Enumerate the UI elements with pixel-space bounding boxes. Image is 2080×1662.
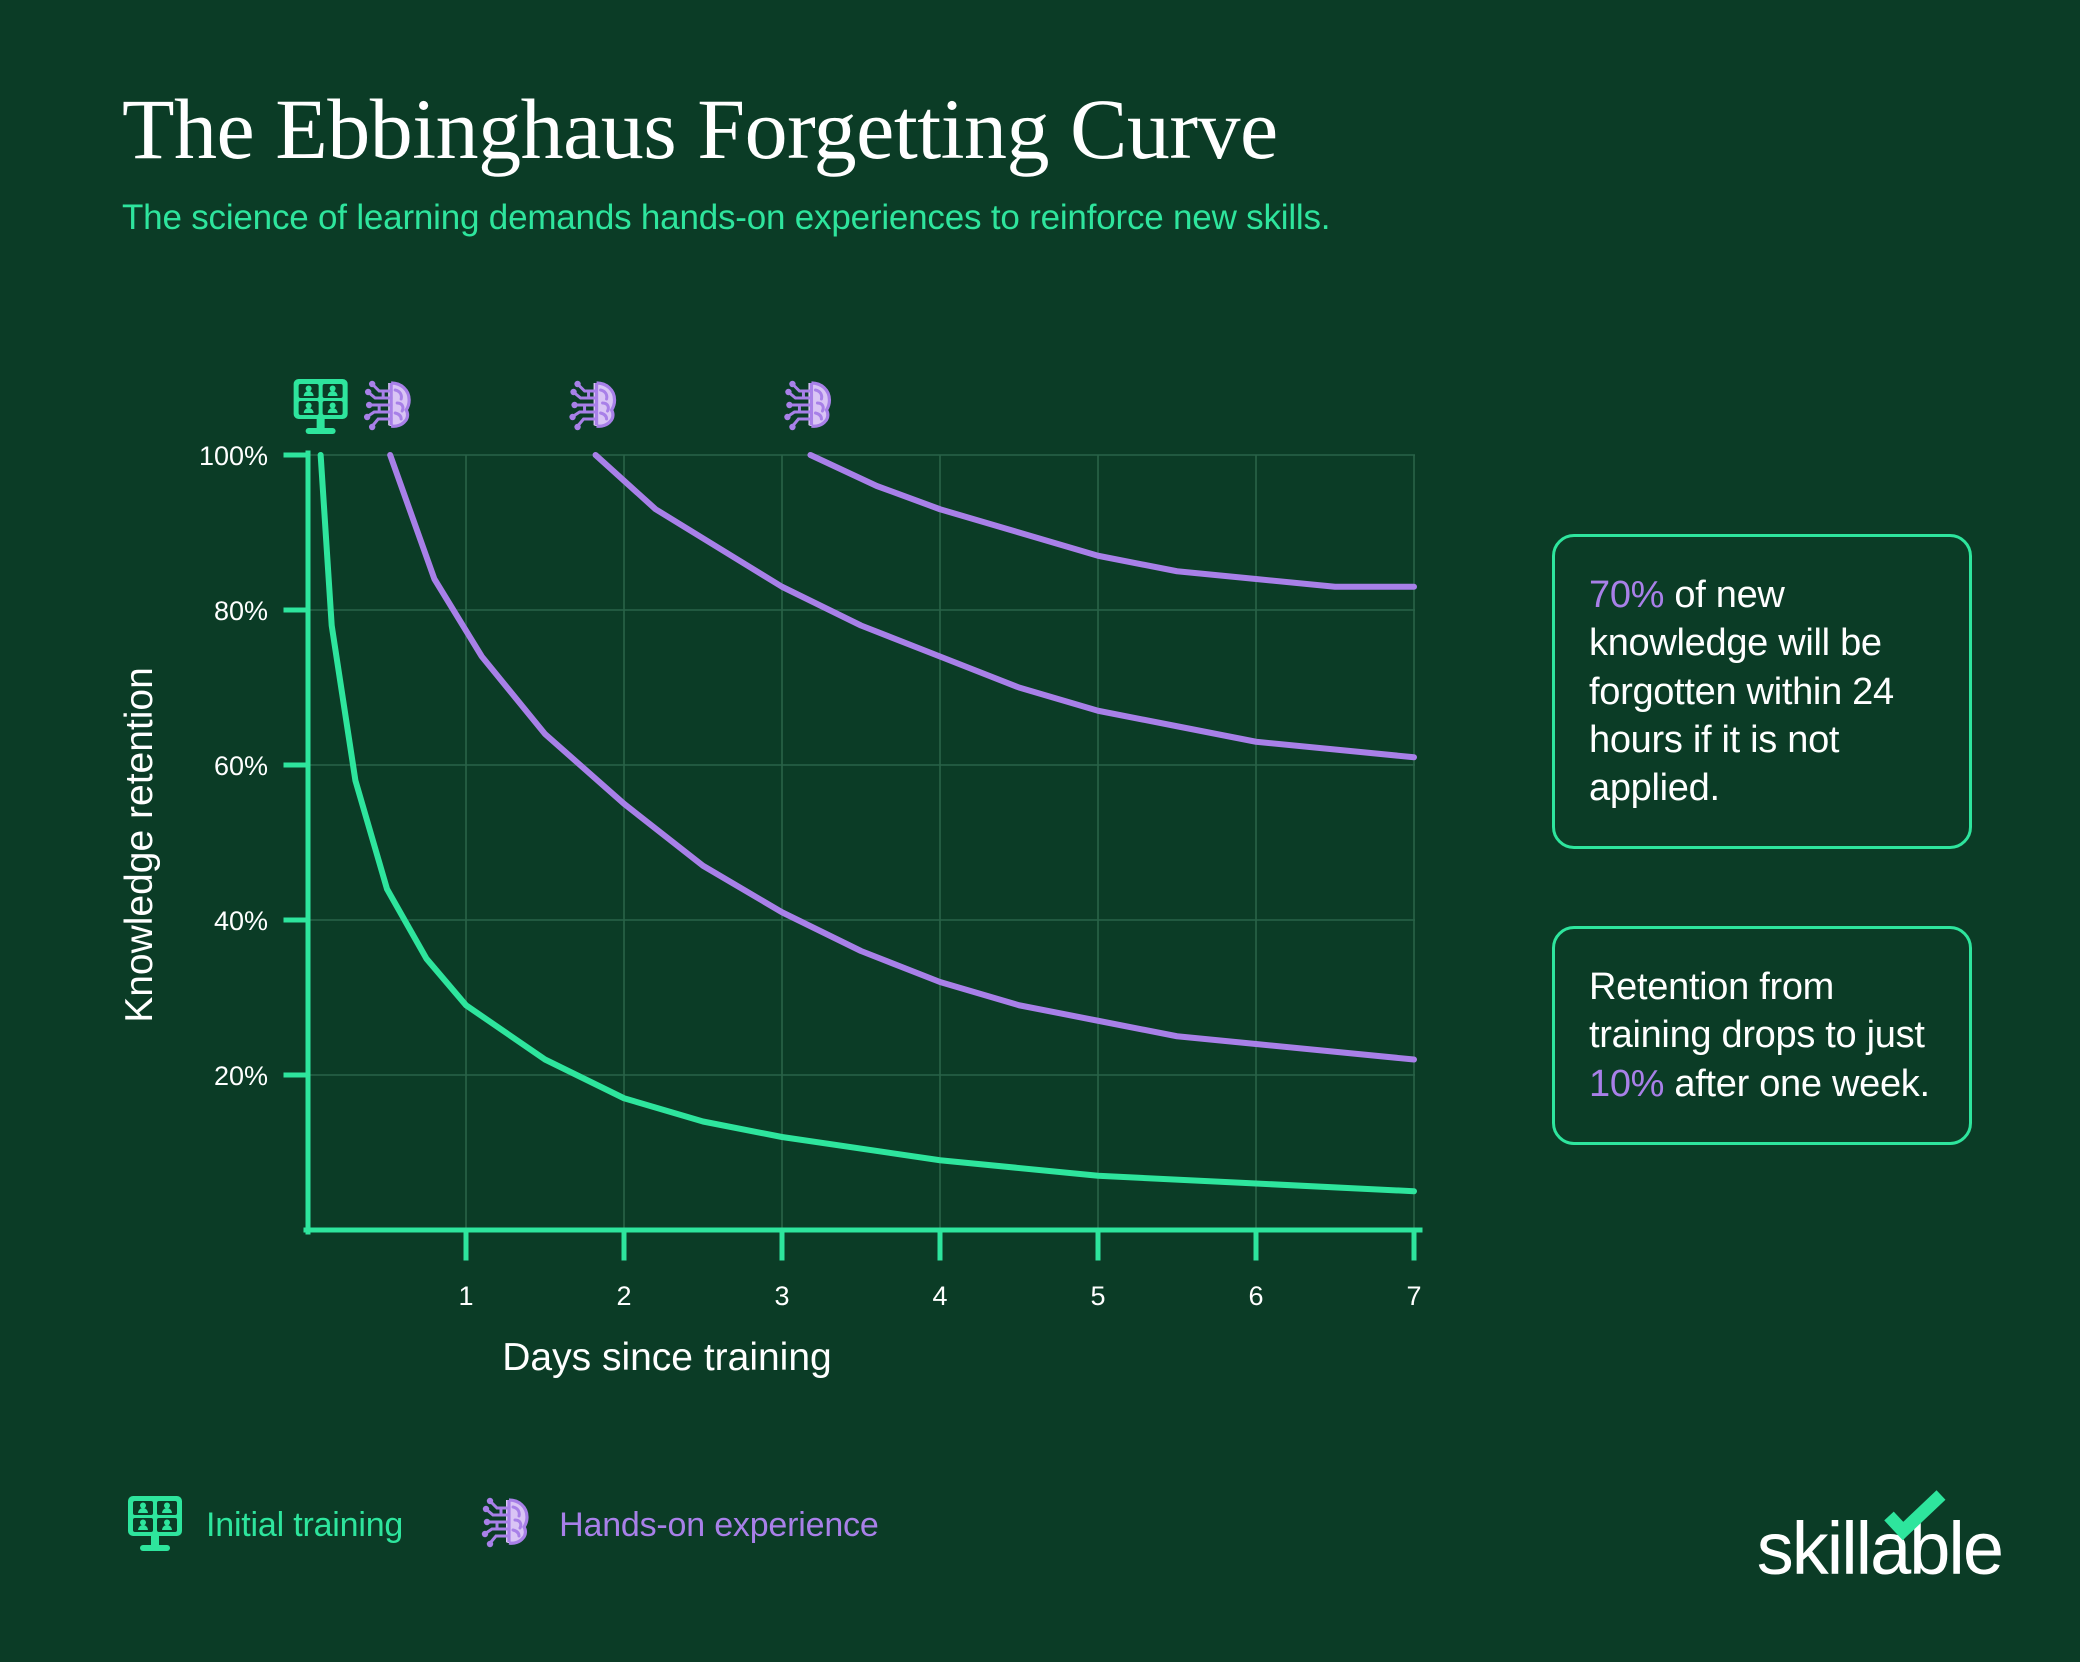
marker-ai-brain-icon-1 — [364, 381, 409, 430]
marker-ai-brain-icon-3 — [784, 381, 829, 430]
chart-svg: 100% 80% 60% 40% 20% 1 2 3 4 5 6 7 Days … — [0, 360, 1500, 1420]
x-tick-4: 4 — [932, 1281, 947, 1311]
legend-item-hands-on-experience: Hands-on experience — [479, 1494, 878, 1557]
x-tick-6: 6 — [1248, 1281, 1263, 1311]
chart-line-1 — [390, 455, 1414, 1060]
chart-line-3 — [810, 455, 1414, 587]
marker-ai-brain-icon-2 — [569, 381, 614, 430]
y-axis-tick-labels: 100% 80% 60% 40% 20% — [199, 441, 268, 1091]
y-tick-80: 80% — [214, 596, 268, 626]
page-title: The Ebbinghaus Forgetting Curve — [122, 86, 1822, 172]
marker-monitor-people-icon-0 — [294, 379, 348, 434]
callout-box-10-percent: Retention from training drops to just 10… — [1552, 926, 1972, 1145]
page-subtitle: The science of learning demands hands-on… — [122, 198, 1822, 238]
chart-marker-icons — [294, 379, 830, 434]
x-tick-2: 2 — [616, 1281, 631, 1311]
chart-gridlines — [308, 455, 1415, 1230]
chart-line-0 — [321, 455, 1414, 1191]
x-axis-title: Days since training — [502, 1336, 831, 1379]
callout-2-text-pre: Retention from training drops to just — [1589, 966, 1925, 1056]
chart-legend: Initial training Hands-on experience — [126, 1494, 879, 1557]
y-tick-40: 40% — [214, 906, 268, 936]
x-tick-5: 5 — [1090, 1281, 1105, 1311]
callout-box-70-percent: 70% of new knowledge will be forgotten w… — [1552, 534, 1972, 849]
x-axis-tick-labels: 1 2 3 4 5 6 7 — [458, 1281, 1421, 1311]
forgetting-curve-chart: 100% 80% 60% 40% 20% 1 2 3 4 5 6 7 Days … — [0, 360, 1500, 1420]
monitor-people-icon — [126, 1494, 184, 1557]
legend-label-hands-on-experience: Hands-on experience — [559, 1506, 878, 1545]
callout-2-highlight: 10% — [1589, 1063, 1664, 1105]
y-tick-100: 100% — [199, 441, 268, 471]
chart-axes — [286, 453, 1420, 1258]
y-tick-20: 20% — [214, 1061, 268, 1091]
callout-2-text-post: after one week. — [1664, 1063, 1930, 1105]
skillable-logo: skillable — [1757, 1516, 2002, 1583]
logo-wordmark-text: skillable — [1757, 1516, 2002, 1583]
y-axis-title: Knowledge retention — [118, 667, 161, 1023]
chart-line-2 — [596, 455, 1414, 757]
x-tick-3: 3 — [774, 1281, 789, 1311]
y-tick-60: 60% — [214, 751, 268, 781]
x-tick-1: 1 — [458, 1281, 473, 1311]
callout-1-highlight: 70% — [1589, 574, 1664, 616]
legend-item-initial-training: Initial training — [126, 1494, 403, 1557]
checkmark-icon — [1883, 1490, 1953, 1542]
header: The Ebbinghaus Forgetting Curve The scie… — [122, 86, 1822, 238]
x-tick-7: 7 — [1406, 1281, 1421, 1311]
chart-series-layer — [321, 455, 1414, 1191]
ai-brain-icon — [479, 1494, 537, 1557]
legend-label-initial-training: Initial training — [206, 1506, 403, 1545]
